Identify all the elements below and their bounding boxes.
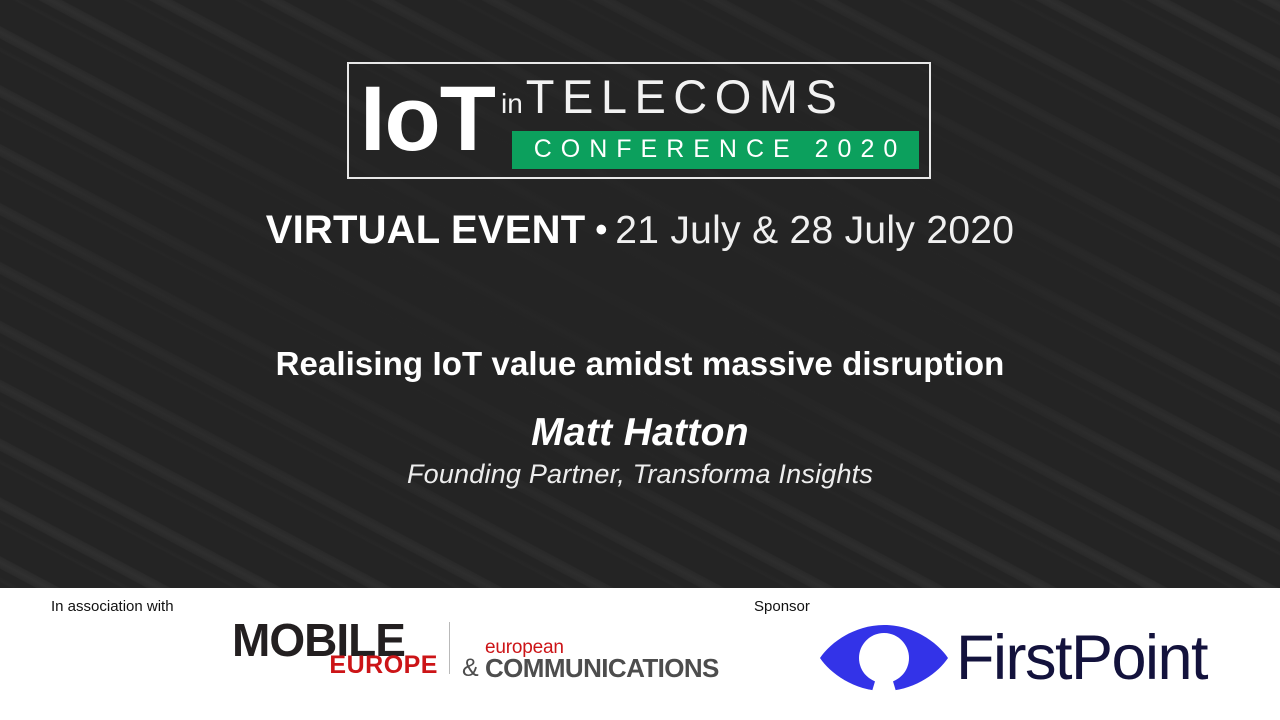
conference-band-label: CONFERENCE 2020 — [525, 137, 907, 162]
in-word: in — [501, 90, 523, 118]
firstpoint-wordmark: FirstPoint — [956, 627, 1207, 690]
iot-wordmark: IoT — [360, 69, 495, 169]
event-logo-right-column: in TELECOMS CONFERENCE 2020 — [495, 71, 920, 169]
telecoms-word: TELECOMS — [526, 73, 845, 120]
ampersand-glyph: & — [462, 656, 479, 681]
in-telecoms-line: in TELECOMS — [501, 71, 920, 131]
firstpoint-eye-icon — [818, 612, 950, 704]
event-logo-inner: IoT in TELECOMS CONFERENCE 2020 — [349, 64, 929, 177]
event-dates: 21 July & 28 July 2020 — [615, 209, 1014, 252]
speaker-name: Matt Hatton — [0, 411, 1280, 455]
mobile-europe-europe-word: EUROPE — [329, 654, 438, 676]
communications-word: COMMUNICATIONS — [485, 656, 719, 681]
talk-title: Realising IoT value amidst massive disru… — [0, 345, 1280, 383]
firstpoint-logo: FirstPoint — [818, 612, 1207, 704]
bullet-separator-icon: • — [595, 211, 607, 249]
event-details-line: VIRTUAL EVENT•21 July & 28 July 2020 — [0, 208, 1280, 253]
event-type-label: VIRTUAL EVENT — [266, 208, 586, 252]
mobile-europe-logo: MOBILE EUROPE — [232, 618, 440, 674]
presentation-slide: IoT in TELECOMS CONFERENCE 2020 VIRTUAL … — [0, 0, 1280, 720]
footer-logo-divider — [449, 622, 450, 674]
sponsor-label: Sponsor — [754, 598, 810, 615]
conference-band: CONFERENCE 2020 — [512, 131, 919, 169]
speaker-role: Founding Partner, Transforma Insights — [0, 459, 1280, 490]
event-logo: IoT in TELECOMS CONFERENCE 2020 — [347, 62, 931, 179]
association-label: In association with — [51, 598, 174, 615]
